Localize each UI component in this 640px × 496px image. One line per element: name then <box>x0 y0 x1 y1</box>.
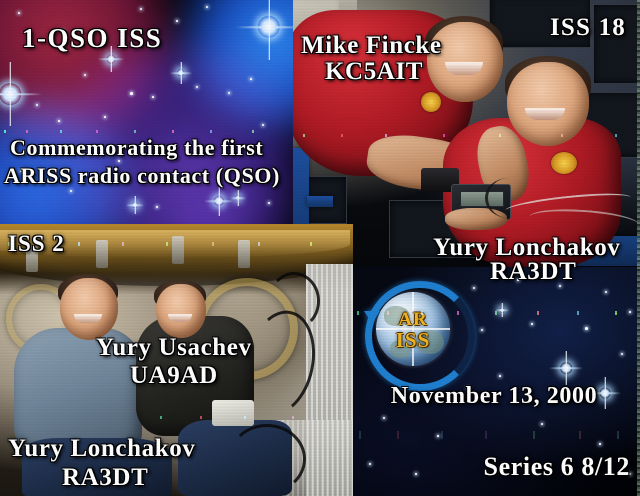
star-dot <box>437 435 439 437</box>
panel3-person1-name: Yury Usachev <box>96 334 252 361</box>
star-dot <box>481 329 483 331</box>
panel3-mission-label: ISS 2 <box>8 232 65 257</box>
hatch-clamp <box>172 236 184 264</box>
star-dot <box>541 423 543 425</box>
star-dot <box>84 74 86 76</box>
bright-star-icon <box>0 62 42 126</box>
star-dot <box>36 104 38 106</box>
hatch-clamp <box>238 240 250 268</box>
astronaut2-smile <box>525 108 565 120</box>
star-dot <box>369 463 371 465</box>
star-dot <box>58 120 60 122</box>
star-dot <box>140 8 142 10</box>
star-dot <box>262 124 264 126</box>
star-dot <box>499 375 501 377</box>
panel3-person2-name: Yury Lonchakov <box>8 435 195 462</box>
cosmonaut1-face <box>60 278 118 340</box>
panel1-title: 1-QSO ISS <box>22 24 162 53</box>
star-dot <box>118 160 120 162</box>
star-dot <box>250 78 252 80</box>
panel-starfield-nebula: 1-QSO ISS Commemorating the first ARISS … <box>0 0 293 224</box>
star-dot <box>383 417 385 419</box>
panel1-caption-line2: ARISS radio contact (QSO) <box>4 164 280 188</box>
panel2-person1-name: Mike Fincke <box>301 32 442 59</box>
star-dot <box>104 116 106 118</box>
panel2-person2-callsign: RA3DT <box>490 258 576 285</box>
star-dot <box>70 190 72 192</box>
star-dot <box>629 311 631 313</box>
star-dot <box>473 287 475 289</box>
cable-loop <box>268 272 320 330</box>
star-dot <box>585 327 588 330</box>
cable-bundle <box>485 178 532 218</box>
panel-iss2-crew-photo: ISS 2 Yury Usachev UA9AD Yury Lonchakov … <box>0 224 353 496</box>
star-dot <box>228 92 230 94</box>
star-dot <box>156 206 158 208</box>
bright-star-icon <box>495 303 509 317</box>
bright-star-icon <box>126 196 144 214</box>
bright-star-icon <box>549 351 583 385</box>
star-dot <box>415 473 417 475</box>
bright-star-icon <box>170 62 192 84</box>
sstv-qsl-card: 1-QSO ISS Commemorating the first ARISS … <box>0 0 640 496</box>
star-dot <box>196 86 198 88</box>
astronaut1-shirt-emblem <box>421 92 441 112</box>
panel4-date: November 13, 2000 <box>389 384 599 410</box>
star-dot <box>559 285 561 287</box>
handrail <box>307 196 333 207</box>
panel1-caption-line1: Commemorating the first <box>10 136 263 160</box>
star-dot <box>605 291 607 293</box>
panel2-person1-callsign: KC5AIT <box>325 58 423 85</box>
bright-star-icon <box>230 190 246 206</box>
star-dot <box>130 92 133 95</box>
ariss-logo-icon: AR ISS <box>365 281 461 377</box>
star-dot <box>268 202 270 204</box>
panel3-person2-callsign: RA3DT <box>62 464 148 491</box>
white-object-in-hand <box>212 400 254 426</box>
star-dot <box>152 96 154 98</box>
star-dot <box>206 6 208 8</box>
star-dot <box>18 12 20 14</box>
panel2-person2-name: Yury Lonchakov <box>433 234 620 261</box>
astronaut2-face <box>507 62 589 146</box>
star-dot <box>531 323 533 325</box>
panel3-person1-callsign: UA9AD <box>130 362 218 389</box>
ariss-logo-iss-text: ISS <box>365 328 461 353</box>
panel4-series: Series 6 8/12 <box>484 453 630 481</box>
cable-loop <box>228 424 306 494</box>
panel2-mission-label: ISS 18 <box>550 14 626 41</box>
star-dot <box>599 443 601 445</box>
astronaut2-shirt-emblem <box>551 152 577 174</box>
hatch-clamp <box>96 240 108 268</box>
star-dot <box>621 353 623 355</box>
cosmonaut2-face <box>156 284 206 338</box>
star-dot <box>176 20 178 22</box>
panel-ariss-logo: AR ISS <box>353 267 640 496</box>
bright-star-icon <box>236 0 293 60</box>
